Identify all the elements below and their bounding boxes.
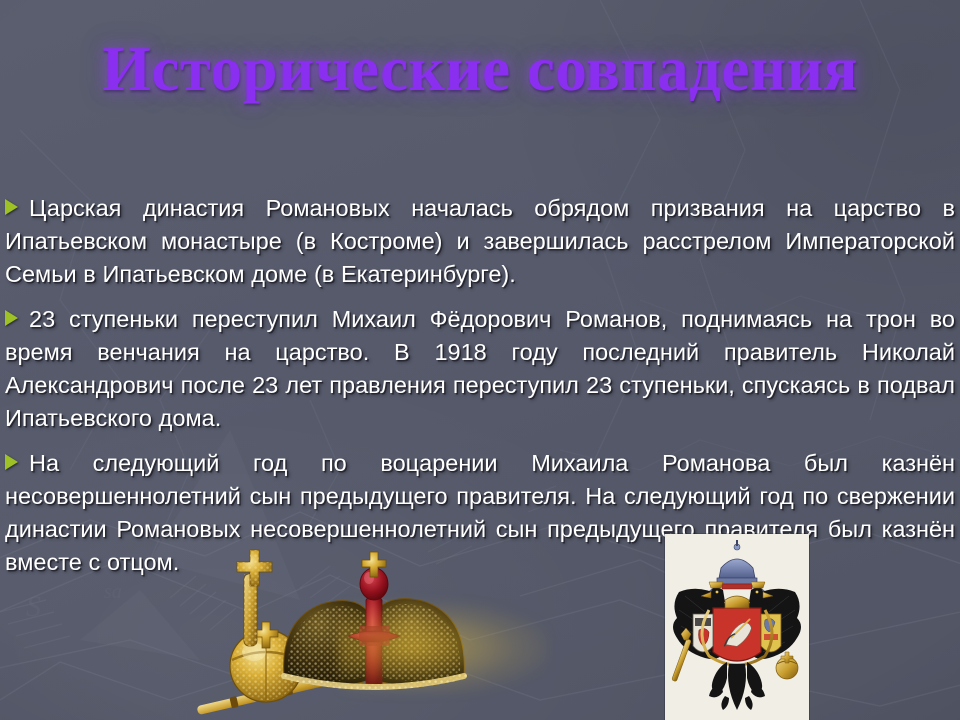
title-container: Исторические совпадения [0, 38, 960, 101]
triangle-right-bullet-icon [5, 310, 18, 326]
slide-title: Исторические совпадения [102, 38, 858, 101]
bullet-paragraph: 23 ступеньки переступил Михаил Фёдорович… [5, 303, 955, 435]
imperial-regalia-image [188, 548, 498, 720]
bullet-text: 23 ступеньки переступил Михаил Фёдорович… [5, 306, 955, 431]
central-shield [713, 608, 761, 661]
triangle-right-bullet-icon [5, 454, 18, 470]
slide-body: Царская династия Романовых началась обря… [5, 192, 955, 579]
bullet-paragraph: Царская династия Романовых началась обря… [5, 192, 955, 291]
coat-of-arms-panel [665, 534, 809, 720]
regalia-glow [338, 600, 548, 695]
presentation-slide: S sa Исторические совпадения Царская дин… [0, 0, 960, 720]
svg-text:S: S [26, 590, 41, 623]
svg-text:sa: sa [104, 581, 122, 603]
triangle-right-bullet-icon [5, 199, 18, 215]
bullet-text: Царская династия Романовых началась обря… [5, 195, 955, 287]
